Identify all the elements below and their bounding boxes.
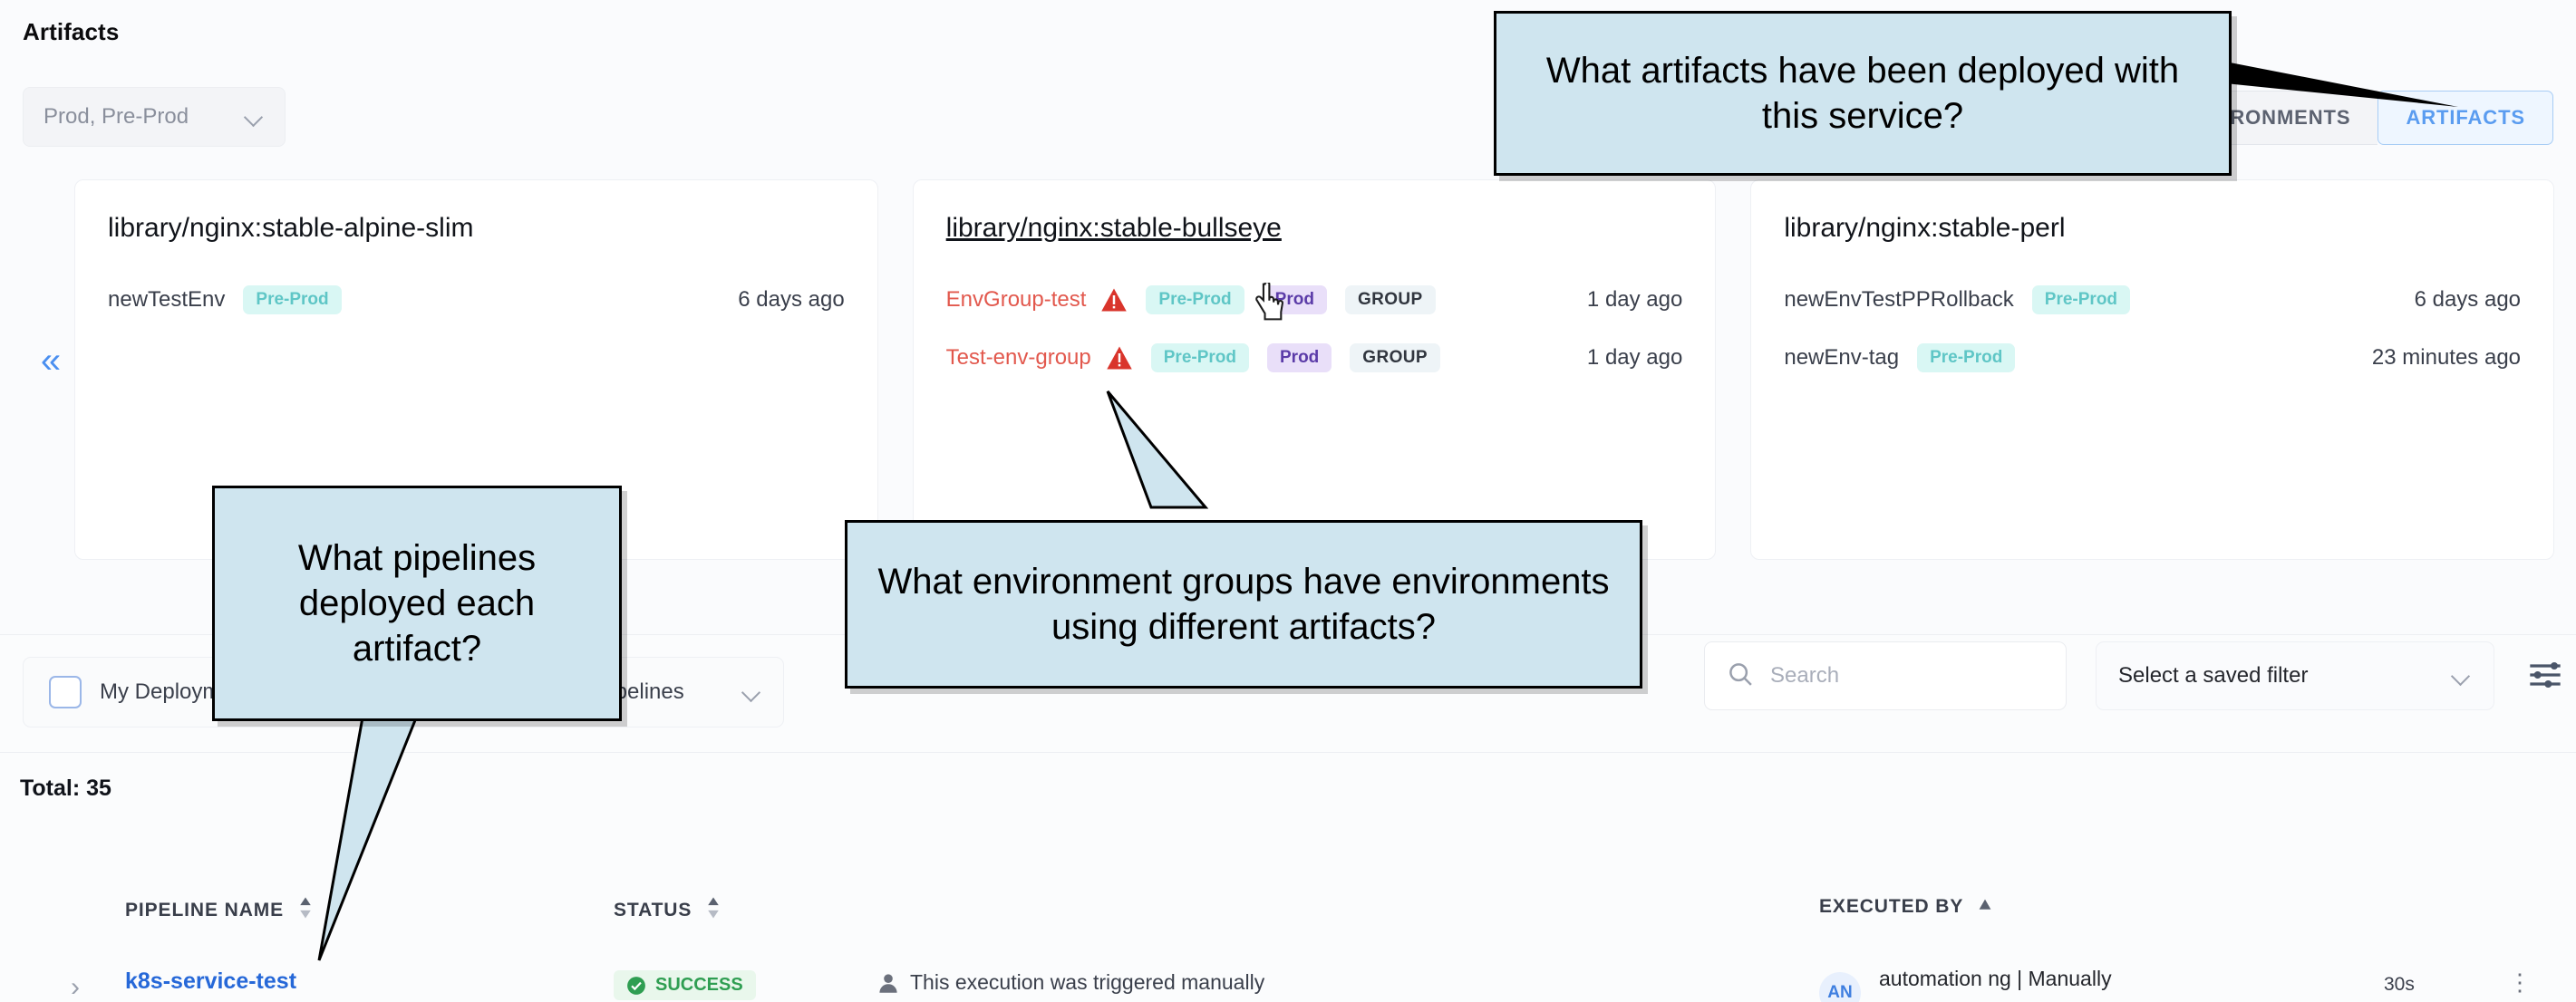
deployment-time: 1 day ago (1587, 287, 1682, 313)
environment-name: Test-env-group (946, 345, 1091, 371)
avatar: AN (1819, 972, 1861, 1002)
deployment-time: 23 minutes ago (2372, 345, 2521, 371)
table-header-row: PIPELINE NAME STATUS EXECUTED BY (0, 896, 2576, 950)
status-label: SUCCESS (655, 975, 743, 996)
table-row[interactable]: › k8s-service-test SUCCESS This executio… (0, 968, 2576, 1002)
env-group-tag: GROUP (1350, 343, 1440, 372)
kebab-menu-icon[interactable]: ⋮ (2508, 968, 2532, 997)
artifact-env-row[interactable]: newEnv-tag Pre-Prod 23 minutes ago (1784, 338, 2521, 378)
artifact-env-row[interactable]: newTestEnv Pre-Prod 6 days ago (108, 280, 845, 320)
env-type-tag: Pre-Prod (1917, 343, 2015, 372)
env-type-tag: Pre-Prod (1151, 343, 1249, 372)
artifact-env-row[interactable]: Test-env-group Pre-Prod Prod GROUP 1 day… (946, 338, 1683, 378)
saved-filter-value: Select a saved filter (2118, 663, 2452, 689)
sort-both-icon (706, 896, 721, 925)
env-type-tag: Pre-Prod (1146, 285, 1244, 314)
duration: 30s (2384, 974, 2415, 996)
search-placeholder: Search (1770, 663, 1839, 689)
chevron-down-icon (2452, 666, 2472, 686)
warning-triangle-icon (1106, 345, 1133, 371)
search-input[interactable]: Search (1704, 641, 2067, 710)
callout-envgroups: What environment groups have environment… (845, 520, 1642, 689)
my-deployments-checkbox[interactable] (49, 676, 82, 708)
env-type-tag: Prod (1267, 343, 1332, 372)
environment-filter-value: Prod, Pre-Prod (44, 104, 245, 130)
column-header-label: STATUS (614, 900, 692, 921)
artifact-card: library/nginx:stable-bullseye EnvGroup-t… (913, 179, 1717, 560)
pipeline-name-link[interactable]: k8s-service-test (125, 968, 296, 995)
chevron-down-icon (245, 107, 265, 127)
success-check-icon (626, 976, 646, 996)
artifact-env-row[interactable]: EnvGroup-test Pre-Prod Prod GROUP 1 day … (946, 280, 1683, 320)
environment-name: newTestEnv (108, 287, 225, 313)
env-type-tag: Pre-Prod (243, 285, 341, 314)
double-chevron-left-icon[interactable]: « (27, 337, 74, 384)
chevron-down-icon (742, 682, 762, 702)
environment-filter-select[interactable]: Prod, Pre-Prod (23, 87, 286, 147)
executed-by-text: automation ng | Manually (1879, 967, 2112, 991)
trigger-info: This execution was triggered manually (877, 970, 1264, 995)
column-header-label: PIPELINE NAME (125, 900, 284, 921)
callout-artifacts: What artifacts have been deployed with t… (1494, 11, 2232, 176)
deployment-time: 6 days ago (2415, 287, 2521, 313)
environment-name: newEnv-tag (1784, 345, 1899, 371)
total-count: Total: 35 (20, 776, 111, 802)
user-icon (877, 972, 899, 994)
mouse-cursor-pointer-icon (1255, 283, 1286, 321)
deployment-time: 1 day ago (1587, 345, 1682, 371)
warning-triangle-icon (1100, 287, 1128, 313)
env-type-tag: Pre-Prod (2032, 285, 2130, 314)
artifact-name[interactable]: library/nginx:stable-alpine-slim (108, 213, 845, 244)
column-header-pipeline-name[interactable]: PIPELINE NAME (125, 896, 313, 925)
search-icon (1727, 660, 1754, 692)
artifact-name[interactable]: library/nginx:stable-bullseye (946, 213, 1683, 244)
sort-both-icon (298, 896, 313, 925)
deployment-time: 6 days ago (738, 287, 844, 313)
artifact-card: library/nginx:stable-perl newEnvTestPPRo… (1750, 179, 2554, 560)
column-header-executed-by[interactable]: EXECUTED BY (1819, 896, 1992, 918)
trigger-text: This execution was triggered manually (910, 970, 1264, 995)
environment-name: EnvGroup-test (946, 287, 1087, 313)
executions-table: Total: 35 PIPELINE NAME STATUS EXECUTED … (0, 752, 2576, 1002)
environment-name: newEnvTestPPRollback (1784, 287, 2013, 313)
tab-artifacts[interactable]: ARTIFACTS (2377, 91, 2553, 145)
chevron-right-icon[interactable]: › (71, 972, 80, 1002)
sliders-icon[interactable] (2527, 657, 2563, 693)
page-title: Artifacts (23, 18, 119, 46)
column-header-label: EXECUTED BY (1819, 896, 1963, 918)
artifact-env-row[interactable]: newEnvTestPPRollback Pre-Prod 6 days ago (1784, 280, 2521, 320)
artifact-name[interactable]: library/nginx:stable-perl (1784, 213, 2521, 244)
saved-filter-select[interactable]: Select a saved filter (2096, 641, 2494, 710)
env-group-tag: GROUP (1345, 285, 1436, 314)
status-badge: SUCCESS (614, 970, 756, 1000)
callout-pipelines: What pipelines deployed each artifact? (212, 486, 622, 721)
column-header-status[interactable]: STATUS (614, 896, 721, 925)
sort-ascending-icon (1978, 896, 1992, 918)
artifacts-page: Artifacts Prod, Pre-Prod ENVIRONMENTS AR… (0, 0, 2576, 1002)
